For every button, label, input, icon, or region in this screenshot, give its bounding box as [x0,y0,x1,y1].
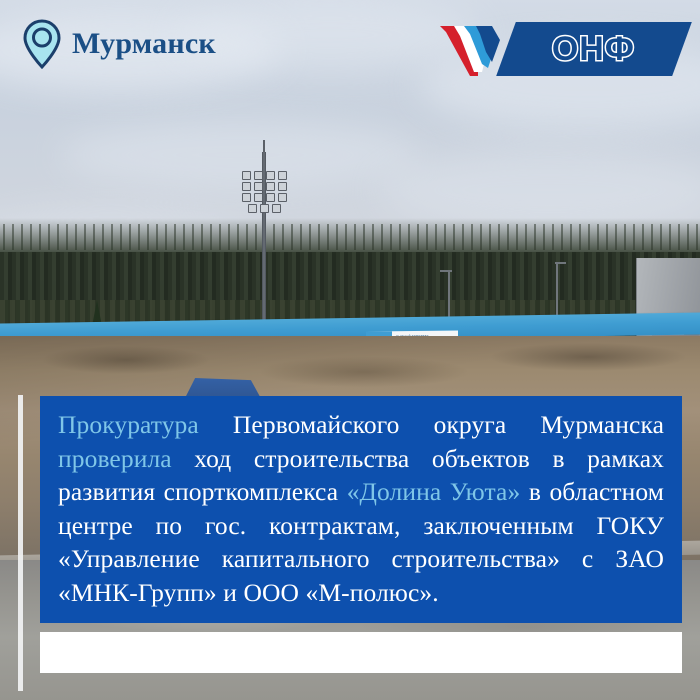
light-pole [448,270,450,322]
onf-plate: ОНФ [496,22,692,76]
onf-logo: ОНФ [438,22,682,76]
caption-text: Прокуратура Первомайского округа Мурманс… [58,408,664,609]
floodlight-lamp-array [238,171,290,219]
header-overlay: Мурманск ОНФ [0,0,700,96]
caption-segment: «Долина Уюта» [347,477,521,506]
onf-wordmark: ОНФ [552,30,635,69]
left-accent-rule [18,395,23,691]
light-pole [556,262,558,320]
caption-segment: Прокуратура [58,410,233,439]
caption-segment: проверила [58,444,194,473]
caption-card-footer [40,632,682,673]
slide-canvas: ЛЫЖНЫЙ КОМПЛЕКС DOLINA UYUTA Мурманск [0,0,700,700]
caption-segment: Первомайского округа Мурманска [233,410,664,439]
map-pin-icon [22,18,62,70]
location-label: Мурманск [72,27,216,61]
location-tag: Мурманск [22,18,216,70]
caption-card: Прокуратура Первомайского округа Мурманс… [40,396,682,623]
